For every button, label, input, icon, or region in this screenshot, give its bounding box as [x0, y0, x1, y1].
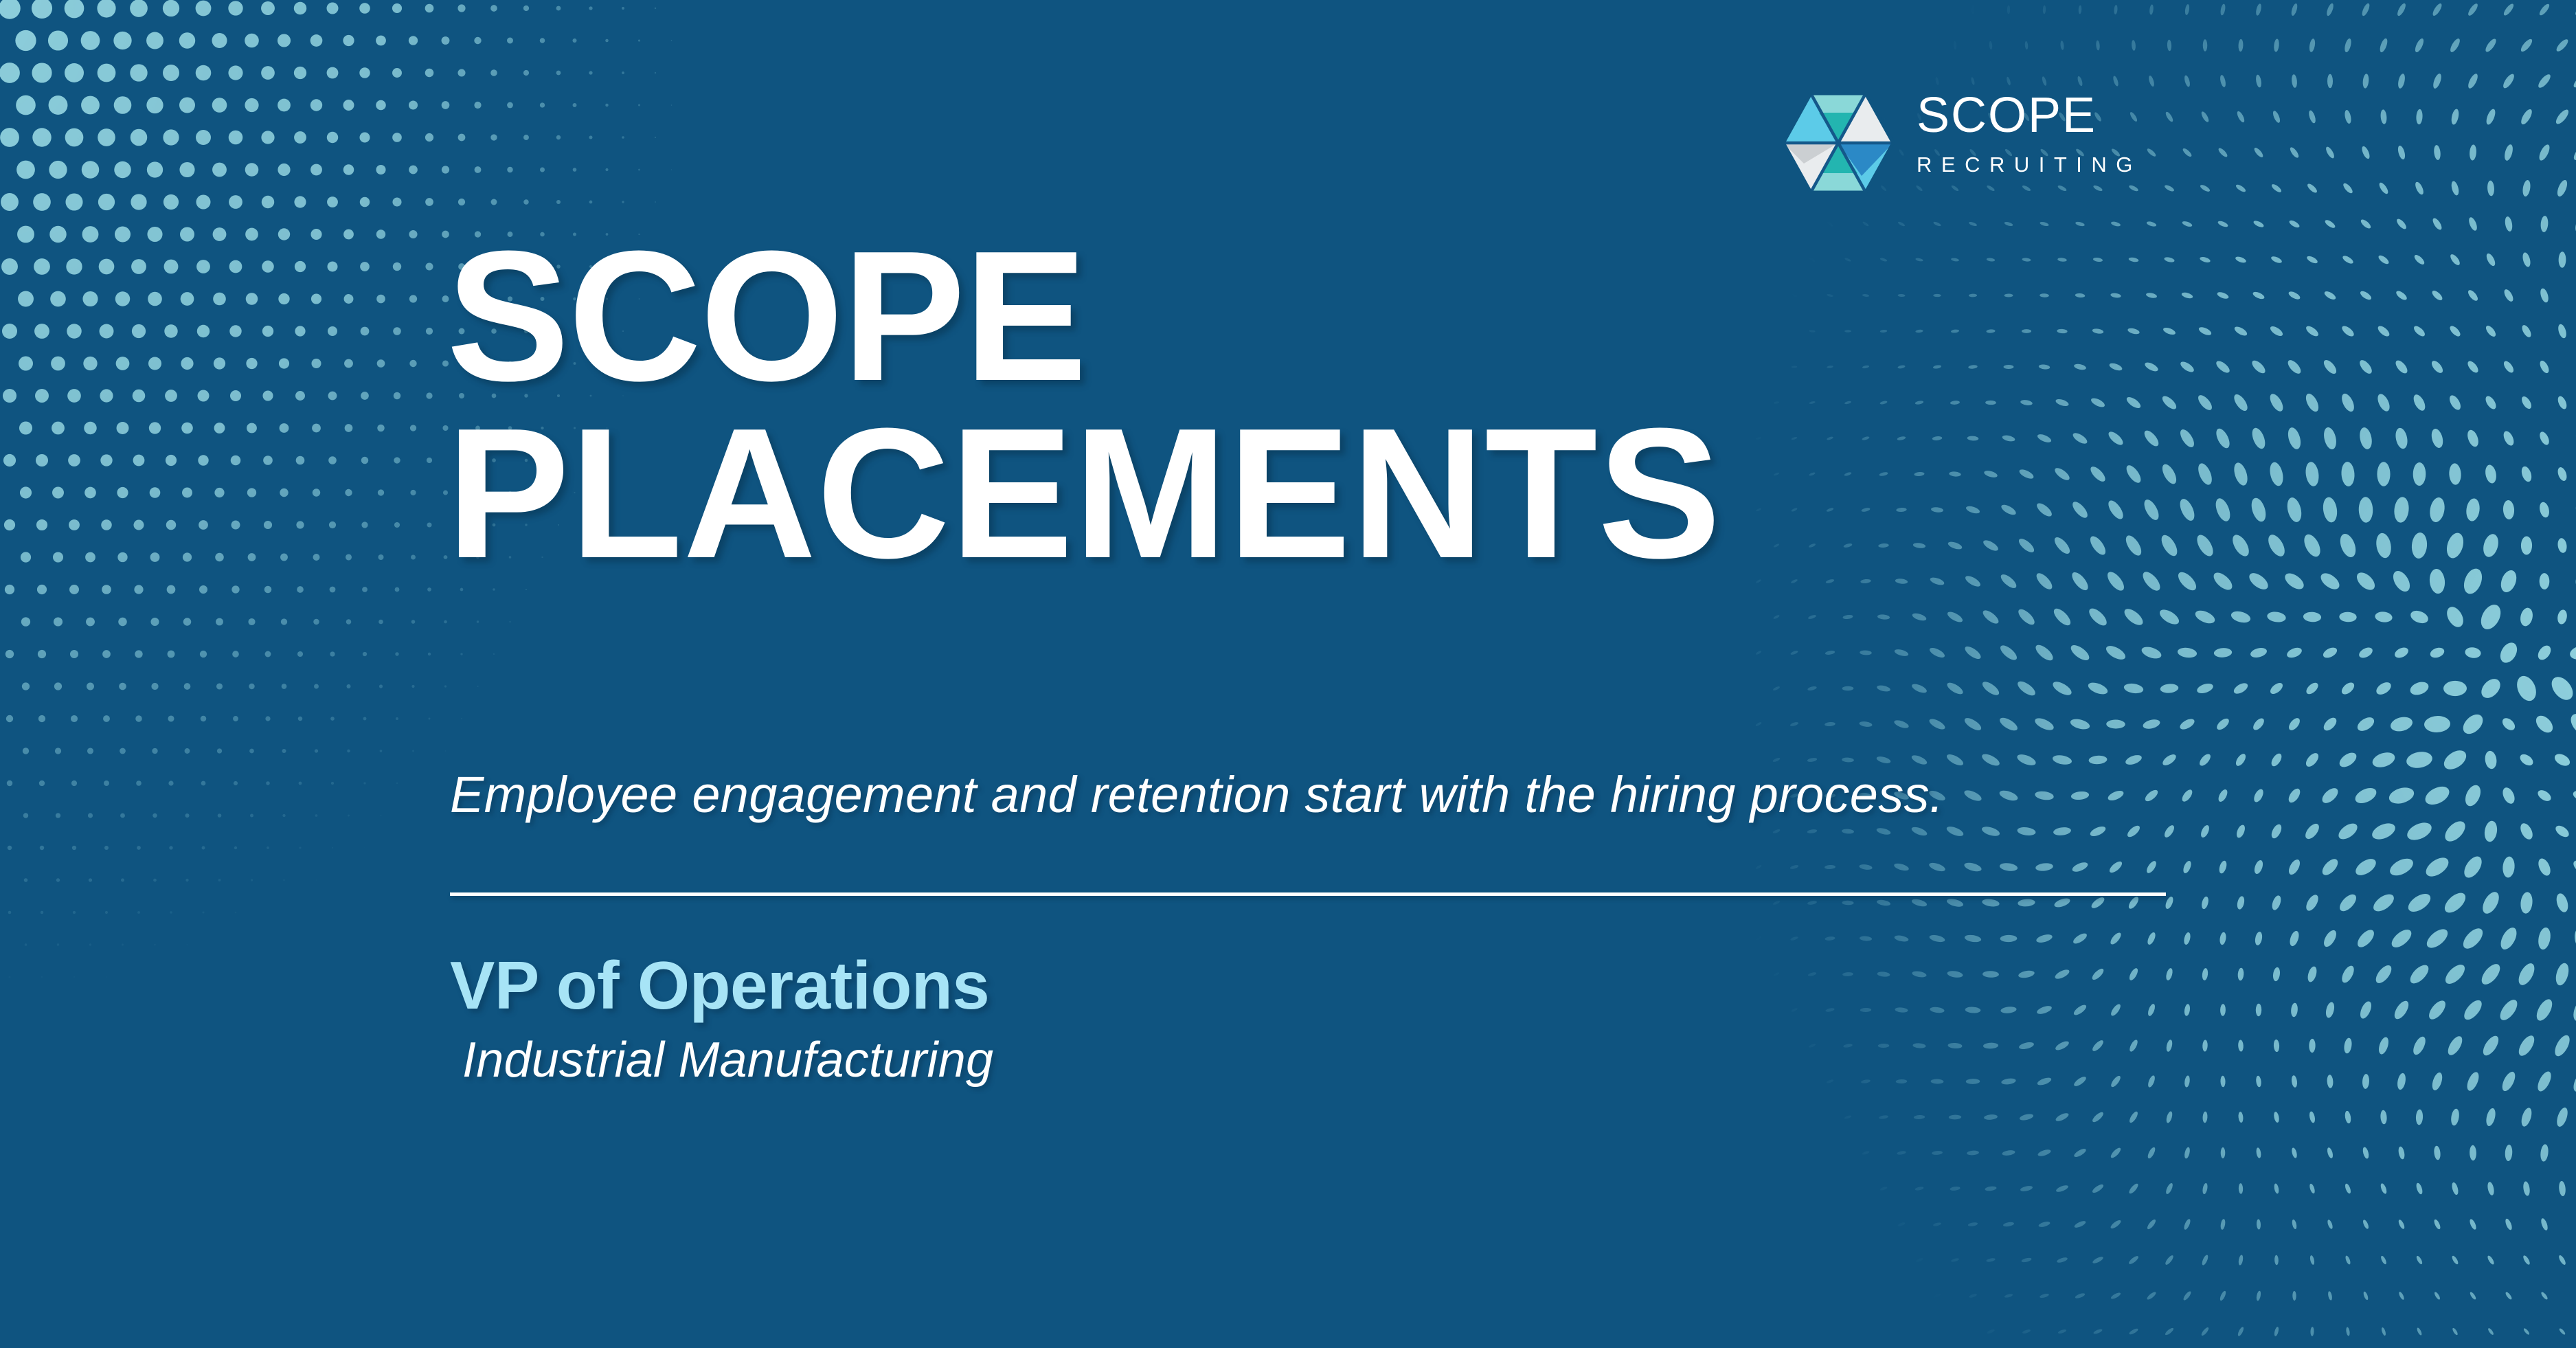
- divider-rule: [450, 892, 2166, 896]
- job-title: VP of Operations: [450, 947, 2167, 1024]
- job-industry: Industrial Manufacturing: [462, 1031, 2167, 1090]
- placement-details: VP of Operations Industrial Manufacturin…: [450, 947, 2167, 1090]
- brand-logo-lockup[interactable]: SCOPE RECRUITING: [1781, 88, 2206, 198]
- scope-hexagon-logo-icon: [1781, 88, 1896, 198]
- halftone-background-pattern: [0, 0, 2576, 1348]
- scope-placements-banner: SCOPE RECRUITING SCOPE PLACEMENTS Employ…: [0, 0, 2576, 1348]
- wordmark-scope: SCOPE: [1917, 88, 2205, 143]
- page-title: SCOPE PLACEMENTS: [447, 228, 2233, 583]
- brand-wordmark: SCOPE RECRUITING: [1917, 88, 2205, 198]
- headline-line-placements: PLACEMENTS: [447, 405, 2224, 583]
- headline-line-scope: SCOPE: [447, 228, 2224, 405]
- tagline: Employee engagement and retention start …: [450, 764, 1944, 826]
- wordmark-recruiting: RECRUITING: [1917, 151, 2205, 179]
